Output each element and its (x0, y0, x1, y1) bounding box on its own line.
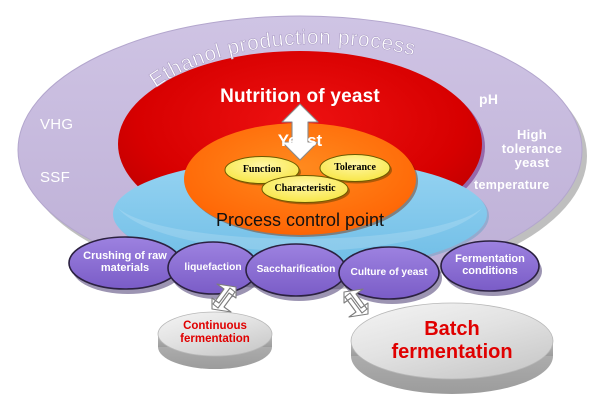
batch-fermentation-disc (351, 303, 553, 394)
continuous-fermentation-disc (158, 312, 272, 369)
diagram-shapes: Ethanol production process (0, 0, 600, 400)
diagram-canvas: Ethanol production process VHG SSF pH Hi… (0, 0, 600, 400)
process-pill-0 (69, 237, 184, 294)
process-pill-2 (246, 244, 349, 301)
process-pill-4 (441, 241, 542, 296)
